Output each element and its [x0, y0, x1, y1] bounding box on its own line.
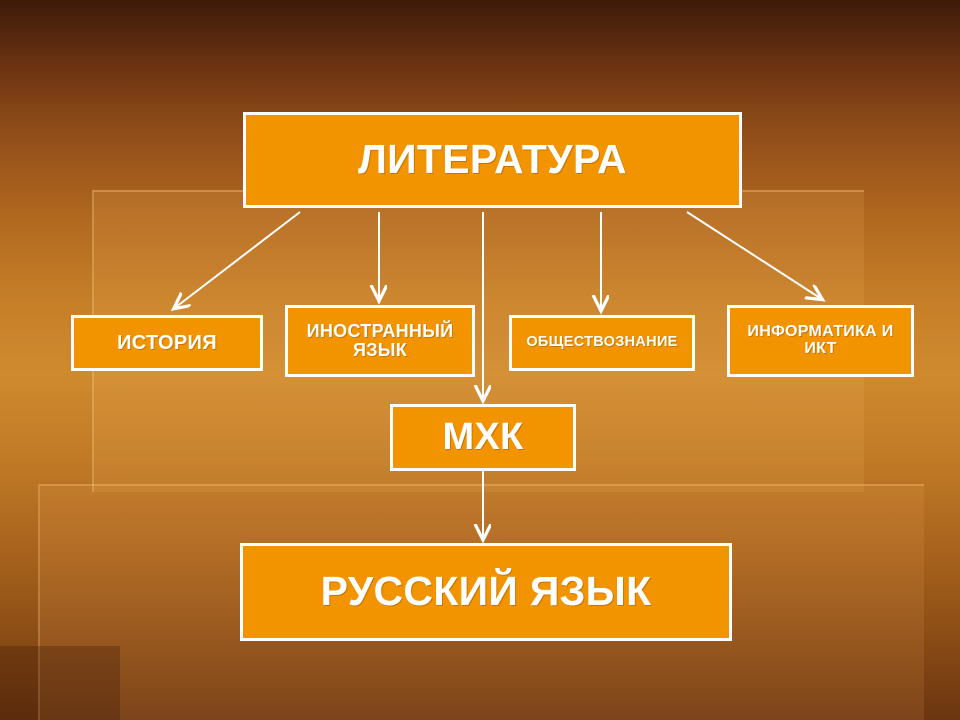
node-obshchestvoznanie-label: ОБЩЕСТВОЗНАНИЕ	[526, 335, 677, 350]
node-mhk[interactable]: МХК	[390, 404, 576, 471]
node-informatika-i-ikt-label: ИНФОРМАТИКА И ИКТ	[730, 324, 911, 358]
node-literatura[interactable]: ЛИТЕРАТУРА	[243, 112, 742, 208]
node-literatura-label: ЛИТЕРАТУРА	[358, 138, 627, 181]
node-russkiy-yazyk[interactable]: РУССКИЙ ЯЗЫК	[240, 543, 732, 641]
node-informatika-i-ikt[interactable]: ИНФОРМАТИКА И ИКТ	[727, 305, 914, 377]
node-russkiy-yazyk-label: РУССКИЙ ЯЗЫК	[321, 570, 652, 613]
node-mhk-label: МХК	[442, 418, 523, 458]
node-inostrannyy-yazyk[interactable]: ИНОСТРАННЫЙ ЯЗЫК	[285, 305, 475, 377]
slide-canvas: ЛИТЕРАТУРА ИСТОРИЯ ИНОСТРАННЫЙ ЯЗЫК ОБЩЕ…	[0, 0, 960, 720]
node-istoriya[interactable]: ИСТОРИЯ	[71, 315, 263, 371]
background-corner-shadow	[0, 646, 120, 720]
node-inostrannyy-yazyk-label: ИНОСТРАННЫЙ ЯЗЫК	[288, 322, 472, 360]
node-istoriya-label: ИСТОРИЯ	[117, 333, 217, 354]
node-obshchestvoznanie[interactable]: ОБЩЕСТВОЗНАНИЕ	[509, 315, 695, 371]
